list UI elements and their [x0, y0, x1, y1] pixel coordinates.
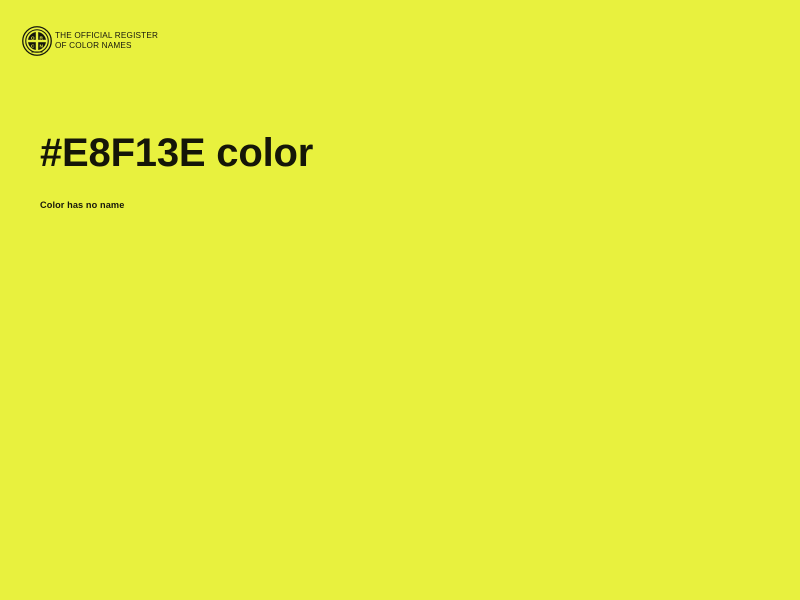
- svg-text:R: R: [40, 35, 44, 41]
- brand-lockup[interactable]: O R C N THE OFFICIAL REGISTER OF COLOR N…: [22, 26, 158, 56]
- brand-wordmark-line-1: THE OFFICIAL REGISTER: [55, 31, 158, 41]
- svg-text:N: N: [40, 44, 44, 50]
- official-register-seal-icon: O R C N: [22, 26, 52, 56]
- color-page: O R C N THE OFFICIAL REGISTER OF COLOR N…: [0, 0, 800, 600]
- brand-wordmark-line-2: OF COLOR NAMES: [55, 41, 158, 51]
- svg-text:C: C: [31, 44, 35, 50]
- color-name-status: Color has no name: [40, 199, 124, 211]
- page-title: #E8F13E color: [40, 131, 313, 175]
- brand-wordmark: THE OFFICIAL REGISTER OF COLOR NAMES: [55, 31, 158, 51]
- svg-text:O: O: [31, 35, 35, 41]
